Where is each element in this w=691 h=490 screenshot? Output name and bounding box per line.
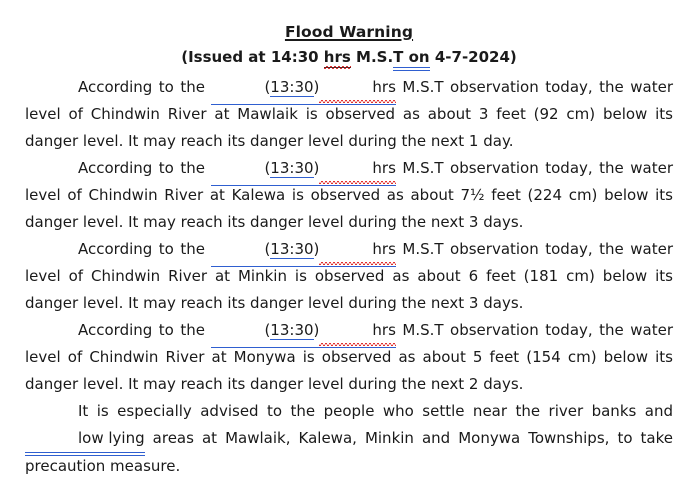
issued-line: (Issued at 14:30 hrs M.S.T on 4-7-2024): [25, 47, 673, 68]
page-title: Flood Warning: [25, 22, 673, 43]
low-lying-grammar-mark: low lying: [25, 425, 145, 453]
time-unit-hrs-misspelling: hrs: [319, 317, 396, 344]
paragraph-kalewa: According to the (13:30)hrs M.S.T observ…: [25, 155, 673, 236]
observation-time: 13:30: [270, 159, 313, 178]
paragraph-monywa: According to the (13:30)hrs M.S.T observ…: [25, 317, 673, 398]
time-unit-hrs-misspelling: hrs: [319, 74, 396, 101]
paragraph-advisory: It is especially advised to the people w…: [25, 398, 673, 480]
paragraph-lead-in: According to the: [78, 159, 211, 177]
observation-time-token: (13:30)hrs: [211, 74, 395, 101]
issued-date: 4-7-2024: [430, 48, 510, 66]
observation-time: 13:30: [270, 321, 313, 340]
time-unit-hrs-misspelling: hrs: [319, 155, 396, 182]
document-page: Flood Warning (Issued at 14:30 hrs M.S.T…: [0, 0, 691, 490]
time-unit-hrs-misspelling: hrs: [319, 236, 396, 263]
paragraph-lead-in: According to the: [78, 240, 211, 258]
observation-time-token: (13:30)hrs: [211, 155, 395, 182]
paragraph-lead-in: According to the: [78, 321, 211, 339]
page-title-text: Flood Warning: [285, 23, 413, 41]
issued-prefix: Issued at 14:30: [188, 48, 324, 66]
observation-time-token: (13:30)hrs: [211, 236, 395, 263]
issued-t-on-grammar-mark: T on: [393, 47, 429, 68]
paragraph-minkin: According to the (13:30)hrs M.S.T observ…: [25, 236, 673, 317]
issued-ms-prefix: M.S.: [351, 48, 393, 66]
observation-time: 13:30: [270, 240, 313, 259]
issued-hrs-misspelling: hrs: [324, 47, 351, 68]
advisory-lead: It is especially advised to the people w…: [78, 402, 673, 420]
issued-close-paren: ): [510, 48, 517, 66]
paragraph-mawlaik: According to the (13:30)hrs M.S.T observ…: [25, 74, 673, 155]
observation-time-token: (13:30)hrs: [211, 317, 395, 344]
observation-time: 13:30: [270, 78, 313, 97]
paragraph-lead-in: According to the: [78, 78, 211, 96]
